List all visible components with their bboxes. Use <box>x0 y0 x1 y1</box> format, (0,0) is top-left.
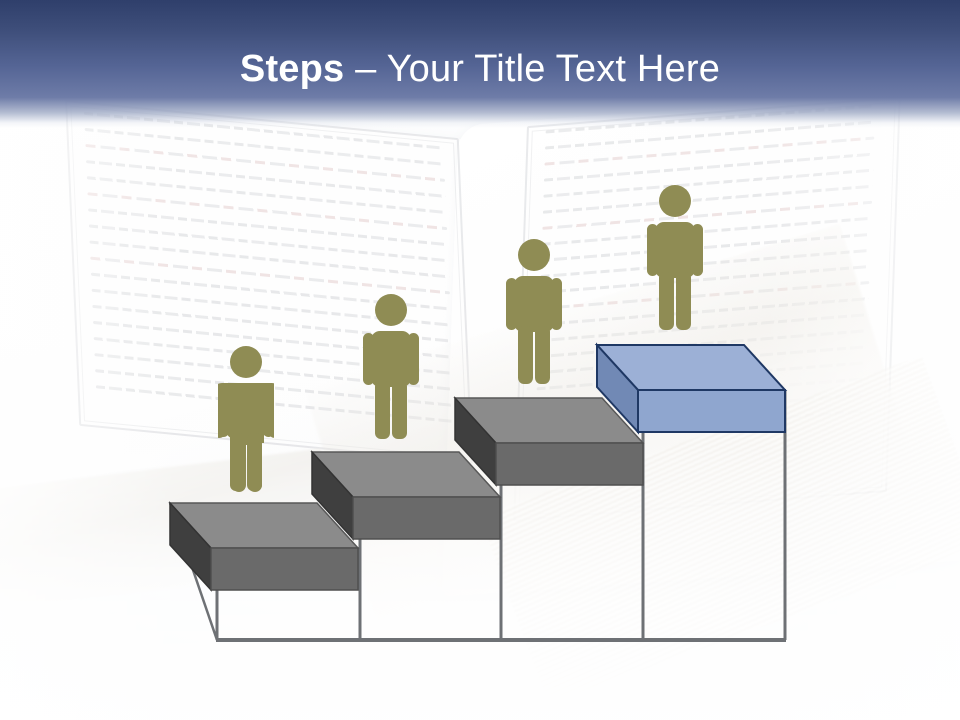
person-icon-step-2[interactable] <box>363 293 419 441</box>
steps-wireframe <box>0 0 960 720</box>
person-icon-step-1[interactable] <box>218 345 274 493</box>
step-block-4-highlighted[interactable] <box>595 342 795 442</box>
steps-diagram <box>0 0 960 720</box>
slide-canvas: Steps – Your Title Text Here <box>0 0 960 720</box>
person-icon-step-4[interactable] <box>647 184 703 332</box>
person-icon-step-3[interactable] <box>506 238 562 386</box>
